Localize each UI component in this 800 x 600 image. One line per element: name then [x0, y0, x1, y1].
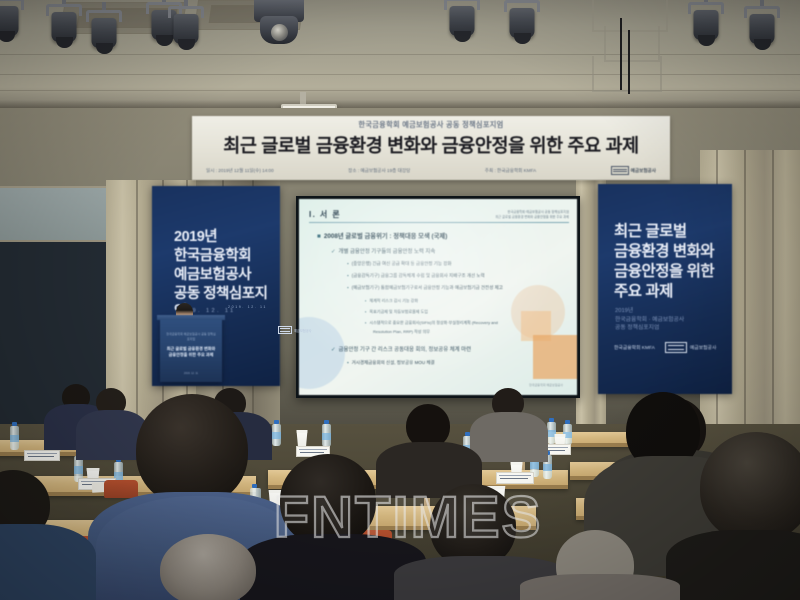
stage-kdic-text: 예금보험공사: [294, 328, 312, 333]
conference-photo-scene: 한국금융학회 예금보험공사 공동 정책심포지엄 최근 글로벌 금융환경 변화와 …: [0, 0, 800, 600]
coffee-cup: [296, 430, 308, 446]
name-card: [24, 450, 60, 461]
slide-bullet: ▪목표기금제 및 차등보험료율제 도입: [365, 309, 428, 315]
water-bottle: [322, 424, 331, 447]
right-rollup-sub: 2019년 한국금융학회 · 예금보험공사 공동 정책심포지엄: [615, 307, 722, 333]
slide-bullet: ▪시스템적으로 중요한 금융회사(SIFIs)의 정상화·부실정리계획 (Rec…: [365, 320, 498, 326]
slide-bullet: ✓개별 금융안정 기구들의 금융안정 노력 지속: [331, 247, 435, 255]
right-rollup-line2: 금융환경 변화와: [614, 242, 724, 262]
kdic-logo-icon: [665, 342, 687, 353]
slide-header: I. 서 론 한국금융학회·예금보험공사 공동 정책심포지엄 최근 글로벌 금융…: [309, 207, 569, 223]
ceiling: [0, 0, 800, 118]
slide-footer-logo: 한국금융학회 예금보험공사: [529, 383, 563, 387]
speaker-podium: 한국금융학회 예금보험공사 공동 정책심포지엄 최근 글로벌 금융환경 변화와 …: [160, 318, 222, 382]
banner-info-row: 일시 : 2019년 12월 11일(수) 14:00 장소 : 예금보험공사 …: [206, 166, 656, 175]
water-bottle: [272, 424, 281, 446]
left-rollup-line1: 2019년: [174, 228, 272, 247]
slide-header-title: I. 서 론: [309, 209, 341, 220]
slide-bullet: ▪(예금보험기구) 통합예금보험기구로서 금융안정 기능과 예금보험기금 건전성…: [347, 285, 503, 291]
slide-header-right: 한국금융학회·예금보험공사 공동 정책심포지엄 최근 글로벌 금융환경 변화와 …: [495, 210, 569, 220]
right-rollup-line3: 금융안정을 위한: [614, 262, 724, 282]
banner-info-host: 주최 : 한국금융학회 KMFA: [485, 168, 536, 174]
slide-header-right-2: 최근 글로벌 금융환경 변화와 금융안정을 위한 주요 과제: [495, 215, 569, 220]
stage-date-text: 2019. 12. 11: [228, 305, 267, 309]
name-card: [496, 472, 534, 484]
water-bottle: [547, 422, 556, 444]
right-rollup-banner: 최근 글로벌 금융환경 변화와 금융안정을 위한 주요 과제 2019년 한국금…: [598, 184, 732, 394]
main-stage-banner: 한국금융학회 예금보험공사 공동 정책심포지엄 최근 글로벌 금융환경 변화와 …: [192, 116, 670, 180]
bullet-marker-icon: ▪: [347, 285, 349, 290]
slide-decor-rect: [533, 335, 577, 379]
bullet-marker-icon: ▪: [365, 298, 366, 303]
slide-bullet: ■2008년 글로벌 금융위기 : 정책대응 모색 (국제): [317, 231, 447, 240]
podium-top-text: 한국금융학회 예금보험공사 공동 정책심포지엄: [166, 332, 216, 341]
right-rollup-line1: 최근 글로벌: [614, 222, 724, 242]
banner-info-cohost: 예금보험공사: [631, 168, 656, 174]
slide-bullet: ▪거시경제금융회의 신설, 정보공유 MOU 체결: [347, 360, 435, 366]
bullet-marker-icon: ✓: [331, 347, 336, 353]
slide-bullet: ▪(금융감독기구) 금융그룹 감독체계 수립 및 금융회사 지배구조 개선 노력: [347, 273, 485, 279]
bullet-marker-icon: ▪: [347, 360, 349, 365]
slide-bullet: ✓금융안정 기구 간 리스크 공동대응 회의, 정보공유 체계 마련: [331, 345, 471, 353]
right-rollup-line4: 주요 과제: [614, 282, 724, 302]
left-rollup-line3: 예금보험공사: [174, 266, 272, 285]
slide-bullet: ▪(중앙은행) 긴급 여신 공급 확대 등 금융안정 기능 강화: [347, 261, 452, 267]
right-rollup-sub3: 공동 정책심포지엄: [615, 324, 722, 333]
presentation-slide: I. 서 론 한국금융학회·예금보험공사 공동 정책심포지엄 최근 글로벌 금융…: [299, 199, 577, 395]
podium-footer: 2019. 12. 11: [165, 372, 217, 375]
wall-board-upper: [0, 186, 112, 246]
podium-headline: 최근 글로벌 금융환경 변화와 금융안정을 위한 주요 과제: [165, 346, 217, 358]
banner-headline: 최근 글로벌 금융환경 변화와 금융안정을 위한 주요 과제: [192, 132, 670, 158]
banner-info-place: 장소 : 예금보험공사 19층 대강당: [348, 168, 410, 174]
bullet-marker-icon: ▪: [347, 261, 349, 266]
banner-top-line: 한국금융학회 예금보험공사 공동 정책심포지엄: [192, 120, 670, 130]
bullet-marker-icon: ▪: [365, 320, 366, 325]
water-bottle: [10, 426, 19, 450]
banner-info-date: 일시 : 2019년 12월 11일(수) 14:00: [206, 168, 274, 174]
right-rollup-title: 최근 글로벌 금융환경 변화와 금융안정을 위한 주요 과제: [614, 222, 724, 303]
kmfa-logo-text: 한국금융학회 KMFA: [614, 344, 655, 351]
right-rollup-sub2: 한국금융학회 · 예금보험공사: [615, 316, 722, 325]
kdic-logo-icon: [278, 326, 292, 334]
podium-headline-2: 금융안정을 위한 주요 과제: [165, 352, 217, 358]
chair: [104, 480, 138, 498]
kdic-logo-icon: [611, 166, 629, 175]
right-rollup-logos: 한국금융학회 KMFA 예금보험공사: [614, 342, 722, 353]
right-rollup-sub1: 2019년: [615, 307, 722, 316]
left-rollup-line2: 한국금융학회: [174, 247, 272, 266]
slide-bullet: Resolution Plan, RRP) 작성 의무: [373, 329, 430, 335]
bullet-marker-icon: ✓: [331, 249, 336, 255]
bullet-marker-icon: ▪: [365, 309, 366, 314]
projection-screen: I. 서 론 한국금융학회·예금보험공사 공동 정책심포지엄 최근 글로벌 금융…: [296, 196, 580, 398]
slide-bullet: ▪체계적 리스크 감시 기능 강화: [365, 298, 418, 304]
bullet-marker-icon: ■: [317, 233, 321, 240]
moving-head-light-icon: [248, 0, 310, 58]
stage-kdic-logo: 예금보험공사: [278, 326, 312, 334]
kdic-logo-text: 예금보험공사: [690, 344, 716, 351]
bullet-marker-icon: ▪: [347, 273, 349, 278]
